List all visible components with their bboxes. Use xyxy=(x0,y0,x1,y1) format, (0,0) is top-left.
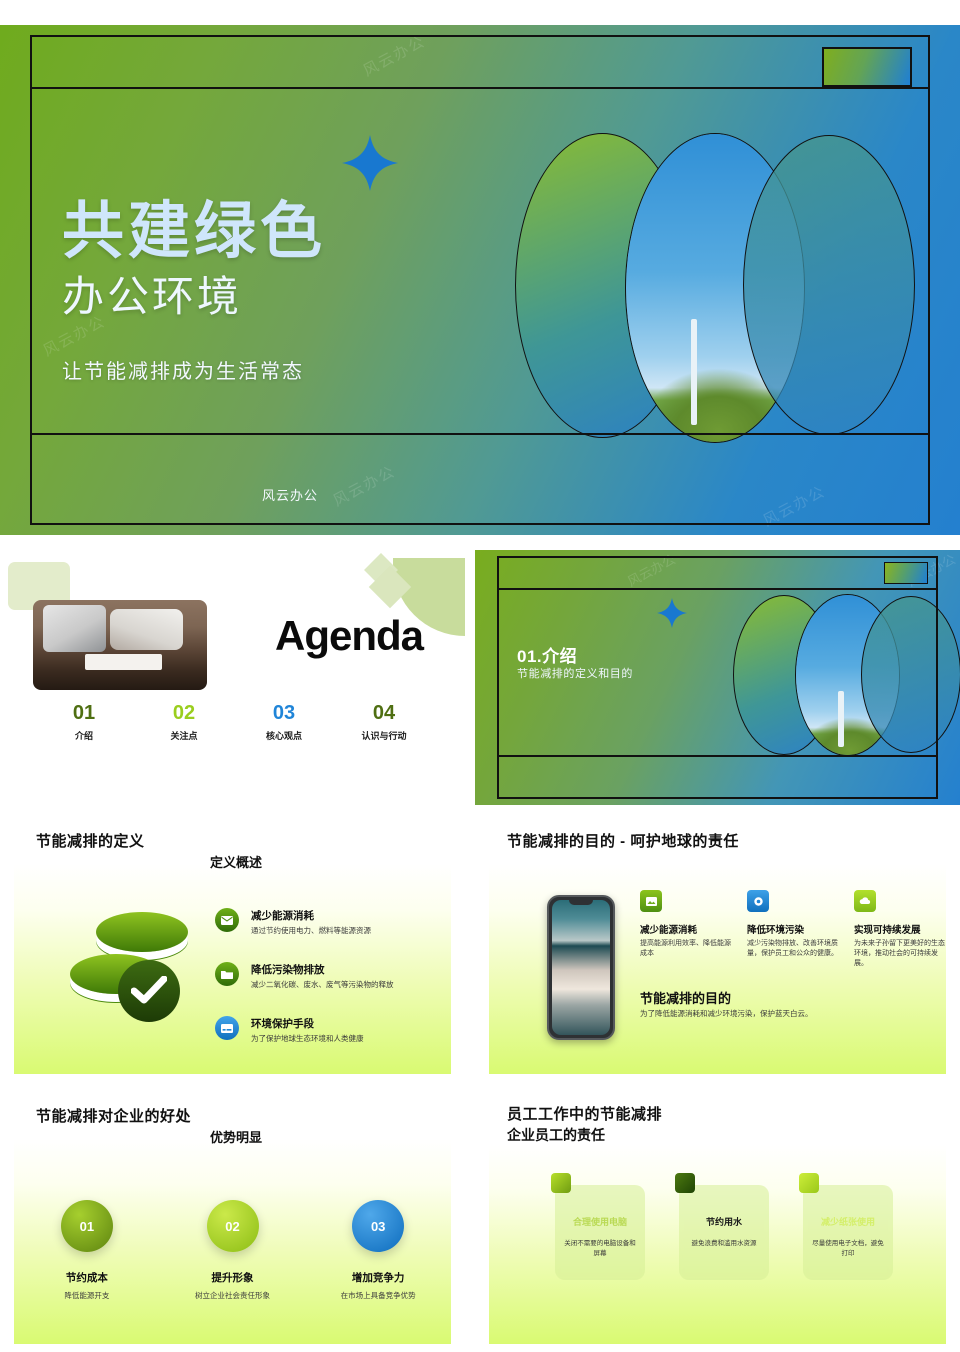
tagline: 让节能减排成为生活常态 xyxy=(62,355,304,384)
slide-deck: 风云办公 风云办公 风云办公 风云办公 风云办公 共建绿色 办公环境 让节能减排… xyxy=(0,0,960,1352)
slide-title: 风云办公 风云办公 风云办公 风云办公 风云办公 共建绿色 办公环境 让节能减排… xyxy=(0,25,960,535)
accent-chip xyxy=(822,47,912,87)
purpose-desc: 为未来子孙留下更美好的生态环境，推动社会的可持续发展。 xyxy=(854,939,947,969)
agenda-label: 核心观点 xyxy=(234,729,334,742)
purpose-item[interactable]: 实现可持续发展 为未来子孙留下更美好的生态环境，推动社会的可持续发展。 xyxy=(854,890,947,969)
benefit-item[interactable]: 01 节约成本 降低能源开支 xyxy=(14,1200,160,1301)
section-number: 01.介绍 xyxy=(517,642,577,667)
definition-desc: 减少二氧化碳、废水、废气等污染物的释放 xyxy=(251,980,435,990)
agenda-label: 介绍 xyxy=(34,729,134,742)
purpose-columns: 减少能源消耗 提高能源利用效率、降低能源成本 降低环境污染 减少污染物排放、改善… xyxy=(640,890,948,969)
mail-icon xyxy=(215,908,239,932)
employee-card[interactable]: 减少纸张使用 尽量使用电子文档，避免打印 xyxy=(803,1185,893,1280)
card-icon xyxy=(215,1016,239,1040)
purpose-footer-desc: 为了降低能源消耗和减少环境污染，保护蓝天白云。 xyxy=(640,1008,813,1019)
diamond-icon xyxy=(342,135,398,191)
slide-agenda: Agenda 01 介绍 02 关注点 03 核心观点 04 认识与行动 xyxy=(0,550,465,805)
agenda-number: 02 xyxy=(134,702,234,724)
employee-cards: 合理使用电脑 关闭不需要的电脑设备和屏幕 节约用水 避免浪费和滥用水资源 减少纸… xyxy=(555,1185,910,1280)
section-subtitle: 优势明显 xyxy=(210,1127,262,1146)
slide-benefits: 节能减排对企业的好处 优势明显 01 节约成本 降低能源开支 02 提升形象 树… xyxy=(0,1095,465,1350)
agenda-item-02[interactable]: 02 关注点 xyxy=(134,702,234,742)
agenda-number: 01 xyxy=(34,702,134,724)
meeting-photo xyxy=(33,600,207,690)
benefits-row: 01 节约成本 降低能源开支 02 提升形象 树立企业社会责任形象 03 增加竞… xyxy=(14,1200,451,1301)
agenda-item-04[interactable]: 04 认识与行动 xyxy=(334,702,434,742)
definition-item[interactable]: 环境保护手段 为了保护地球生态环境和人类健康 xyxy=(215,1016,435,1048)
benefit-number: 02 xyxy=(207,1200,259,1252)
purpose-item[interactable]: 减少能源消耗 提高能源利用效率、降低能源成本 xyxy=(640,890,733,969)
section-subtitle: 节能减排的定义和目的 xyxy=(517,665,633,681)
benefit-desc: 降低能源开支 xyxy=(14,1290,160,1301)
frame-bottom-rule xyxy=(497,755,938,757)
coin-stack-top xyxy=(96,912,188,952)
coins-illustration xyxy=(60,912,195,1022)
definition-title: 降低污染物排放 xyxy=(251,962,435,977)
slide-definition: 节能减排的定义 定义概述 减少能源消耗 通过节约使用电力、燃料等能源资源 xyxy=(0,820,465,1080)
page-title: 共建绿色 xyxy=(62,180,326,270)
slide-section-divider: 风云办公 风云办公 01.介绍 节能减排的定义和目的 xyxy=(475,550,960,805)
cloud-icon xyxy=(854,890,876,912)
card-tab xyxy=(799,1173,819,1193)
check-badge xyxy=(118,960,180,1022)
agenda-list: 01 介绍 02 关注点 03 核心观点 04 认识与行动 xyxy=(34,702,434,742)
section-subtitle: 定义概述 xyxy=(210,852,262,871)
frame-bottom-rule xyxy=(30,433,930,435)
agenda-title: Agenda xyxy=(275,612,423,660)
definition-desc: 通过节约使用电力、燃料等能源资源 xyxy=(251,926,435,936)
benefit-number: 03 xyxy=(352,1200,404,1252)
frame-top-rule xyxy=(30,87,930,89)
employee-card[interactable]: 合理使用电脑 关闭不需要的电脑设备和屏幕 xyxy=(555,1185,645,1280)
agenda-label: 认识与行动 xyxy=(334,729,434,742)
purpose-title: 实现可持续发展 xyxy=(854,922,947,936)
definition-list: 减少能源消耗 通过节约使用电力、燃料等能源资源 降低污染物排放 减少二氧化碳、废… xyxy=(215,908,435,1070)
brand-label: 风云办公 xyxy=(262,485,318,504)
purpose-desc: 减少污染物排放、改善环境质量，保护员工和公众的健康。 xyxy=(747,939,840,959)
check-icon xyxy=(131,976,167,1006)
page-title: 节能减排的定义 xyxy=(36,830,145,851)
page-title: 节能减排对企业的好处 xyxy=(36,1105,191,1126)
benefit-title: 节约成本 xyxy=(14,1270,160,1285)
agenda-item-03[interactable]: 03 核心观点 xyxy=(234,702,334,742)
photo-paper xyxy=(85,654,162,670)
purpose-footer-title: 节能减排的目的 xyxy=(640,988,731,1007)
folder-icon xyxy=(215,962,239,986)
agenda-number: 04 xyxy=(334,702,434,724)
definition-item[interactable]: 降低污染物排放 减少二氧化碳、废水、废气等污染物的释放 xyxy=(215,962,435,994)
page-title: 节能减排的目的 - 呵护地球的责任 xyxy=(507,830,739,851)
diamond-icon xyxy=(657,598,687,628)
slide-employee: 员工工作中的节能减排 企业员工的责任 合理使用电脑 关闭不需要的电脑设备和屏幕 … xyxy=(475,1095,960,1350)
frame-top-rule xyxy=(497,588,938,590)
definition-item[interactable]: 减少能源消耗 通过节约使用电力、燃料等能源资源 xyxy=(215,908,435,940)
page-title: 员工工作中的节能减排 xyxy=(507,1103,662,1124)
purpose-title: 减少能源消耗 xyxy=(640,922,733,936)
benefit-desc: 树立企业社会责任形象 xyxy=(160,1290,306,1301)
card-title: 节约用水 xyxy=(687,1215,761,1228)
page-subtitle: 办公环境 xyxy=(62,263,242,324)
agenda-item-01[interactable]: 01 介绍 xyxy=(34,702,134,742)
card-desc: 尽量使用电子文档，避免打印 xyxy=(811,1239,885,1259)
target-icon xyxy=(747,890,769,912)
benefit-title: 提升形象 xyxy=(160,1270,306,1285)
card-tab xyxy=(675,1173,695,1193)
phone-screen xyxy=(552,900,610,1035)
agenda-number: 03 xyxy=(234,702,334,724)
agenda-label: 关注点 xyxy=(134,729,234,742)
purpose-item[interactable]: 降低环境污染 减少污染物排放、改善环境质量，保护员工和公众的健康。 xyxy=(747,890,840,969)
definition-title: 减少能源消耗 xyxy=(251,908,435,923)
purpose-desc: 提高能源利用效率、降低能源成本 xyxy=(640,939,733,959)
employee-card[interactable]: 节约用水 避免浪费和滥用水资源 xyxy=(679,1185,769,1280)
card-tab xyxy=(551,1173,571,1193)
slide-purpose: 节能减排的目的 - 呵护地球的责任 减少能源消耗 提高能源利用效率、降低能源成本… xyxy=(475,820,960,1080)
benefit-item[interactable]: 03 增加竞争力 在市场上具备竞争优势 xyxy=(305,1200,451,1301)
phone-mockup xyxy=(547,895,615,1040)
definition-title: 环境保护手段 xyxy=(251,1016,435,1031)
benefit-item[interactable]: 02 提升形象 树立企业社会责任形象 xyxy=(160,1200,306,1301)
benefit-title: 增加竞争力 xyxy=(305,1270,451,1285)
accent-chip xyxy=(884,562,928,584)
phone-notch xyxy=(569,900,593,905)
definition-desc: 为了保护地球生态环境和人类健康 xyxy=(251,1034,435,1044)
card-desc: 避免浪费和滥用水资源 xyxy=(687,1239,761,1249)
purpose-title: 降低环境污染 xyxy=(747,922,840,936)
benefit-number: 01 xyxy=(61,1200,113,1252)
card-title: 减少纸张使用 xyxy=(811,1215,885,1228)
card-desc: 关闭不需要的电脑设备和屏幕 xyxy=(563,1239,637,1259)
image-icon xyxy=(640,890,662,912)
card-title: 合理使用电脑 xyxy=(563,1215,637,1228)
benefit-desc: 在市场上具备竞争优势 xyxy=(305,1290,451,1301)
section-subtitle: 企业员工的责任 xyxy=(507,1125,605,1145)
